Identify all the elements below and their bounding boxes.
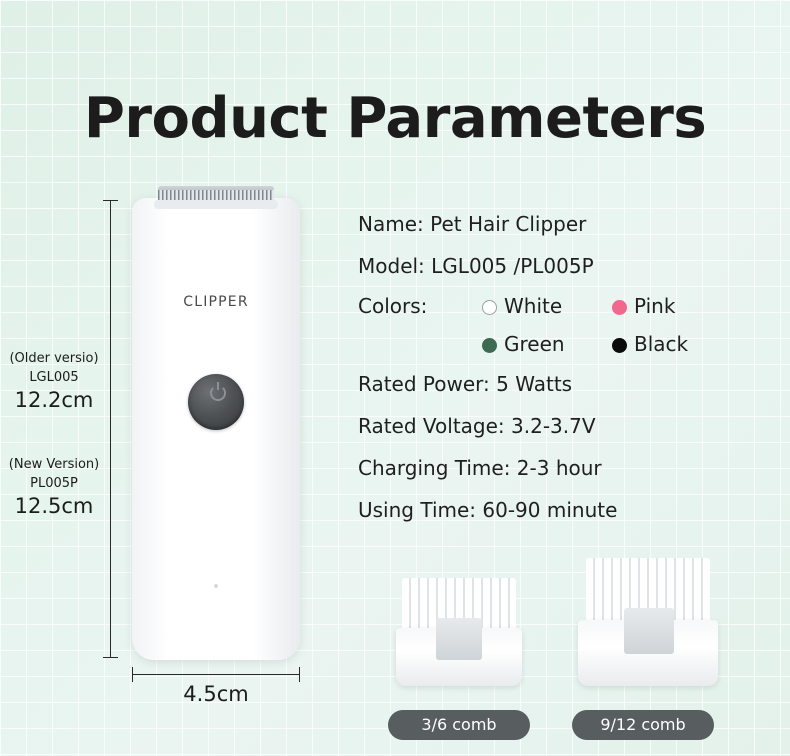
power-glyph-icon — [210, 385, 226, 401]
spec-row-charging-time: Charging Time: 2-3 hour — [358, 447, 768, 489]
power-button-icon — [188, 374, 244, 430]
color-option-pink[interactable]: Pink — [612, 287, 742, 325]
spec-value-charging-time: 2-3 hour — [517, 456, 602, 480]
older-version-note: (Older versio) — [0, 350, 108, 368]
spec-value-model: LGL005 /PL005P — [431, 254, 594, 278]
color-dot-black-icon — [612, 338, 627, 353]
older-version-model: LGL005 — [0, 368, 108, 387]
comb-attachment-small — [396, 578, 522, 688]
spec-row-using-time: Using Time: 60-90 minute — [358, 489, 768, 531]
comb-small-center — [436, 618, 482, 660]
color-dot-white-icon — [482, 300, 497, 315]
color-dot-green-icon — [482, 338, 497, 353]
height-measure-line — [110, 200, 111, 658]
new-version-note: (New Version) — [0, 456, 108, 474]
color-label-green: Green — [504, 332, 565, 356]
older-version-dimension: (Older versio) LGL005 12.2cm — [0, 350, 108, 413]
spec-label-rated-voltage: Rated Voltage: — [358, 414, 505, 438]
width-measure-line — [132, 674, 300, 675]
spec-row-name: Name: Pet Hair Clipper — [358, 203, 768, 245]
clipper-body: CLIPPER — [132, 198, 300, 660]
color-label-white: White — [504, 294, 562, 318]
comb-large-label: 9/12 comb — [572, 710, 714, 740]
spec-label-colors: Colors: — [358, 287, 427, 325]
new-version-dimension: (New Version) PL005P 12.5cm — [0, 456, 108, 519]
older-version-height: 12.2cm — [0, 387, 108, 413]
color-option-black[interactable]: Black — [612, 325, 742, 363]
spec-label-name: Name: — [358, 212, 424, 236]
color-option-white[interactable]: White — [482, 287, 612, 325]
spec-label-charging-time: Charging Time: — [358, 456, 510, 480]
product-illustration: CLIPPER 4.5cm (Older versio) LGL005 12.2… — [96, 190, 336, 690]
spec-value-name: Pet Hair Clipper — [430, 212, 586, 236]
color-label-black: Black — [634, 332, 688, 356]
spec-value-using-time: 60-90 minute — [482, 498, 617, 522]
spec-label-rated-power: Rated Power: — [358, 372, 490, 396]
color-option-green[interactable]: Green — [482, 325, 612, 363]
spec-row-model: Model: LGL005 /PL005P — [358, 245, 768, 287]
blade-cap — [154, 200, 278, 209]
spec-row-rated-voltage: Rated Voltage: 3.2-3.7V — [358, 405, 768, 447]
comb-small-label: 3/6 comb — [388, 710, 530, 740]
spec-label-model: Model: — [358, 254, 425, 278]
product-parameters-page: Product Parameters CLIPPER 4.5cm (Older … — [0, 0, 790, 756]
page-title: Product Parameters — [0, 86, 790, 151]
comb-attachment-large — [578, 558, 718, 688]
color-label-pink: Pink — [634, 294, 675, 318]
spec-value-rated-voltage: 3.2-3.7V — [511, 414, 596, 438]
new-version-model: PL005P — [0, 474, 108, 493]
new-version-height: 12.5cm — [0, 493, 108, 519]
color-swatch-grid: White Pink Green Black — [482, 287, 772, 363]
clipper-brand-text: CLIPPER — [132, 294, 300, 310]
spec-row-colors: Colors: White Pink Green Black — [358, 287, 768, 363]
spec-row-rated-power: Rated Power: 5 Watts — [358, 363, 768, 405]
spec-list: Name: Pet Hair Clipper Model: LGL005 /PL… — [358, 203, 768, 531]
spec-value-rated-power: 5 Watts — [496, 372, 572, 396]
width-dimension-label: 4.5cm — [132, 682, 300, 706]
color-dot-pink-icon — [612, 300, 627, 315]
led-indicator-icon — [214, 584, 218, 588]
spec-label-using-time: Using Time: — [358, 498, 476, 522]
comb-large-center — [624, 608, 674, 654]
